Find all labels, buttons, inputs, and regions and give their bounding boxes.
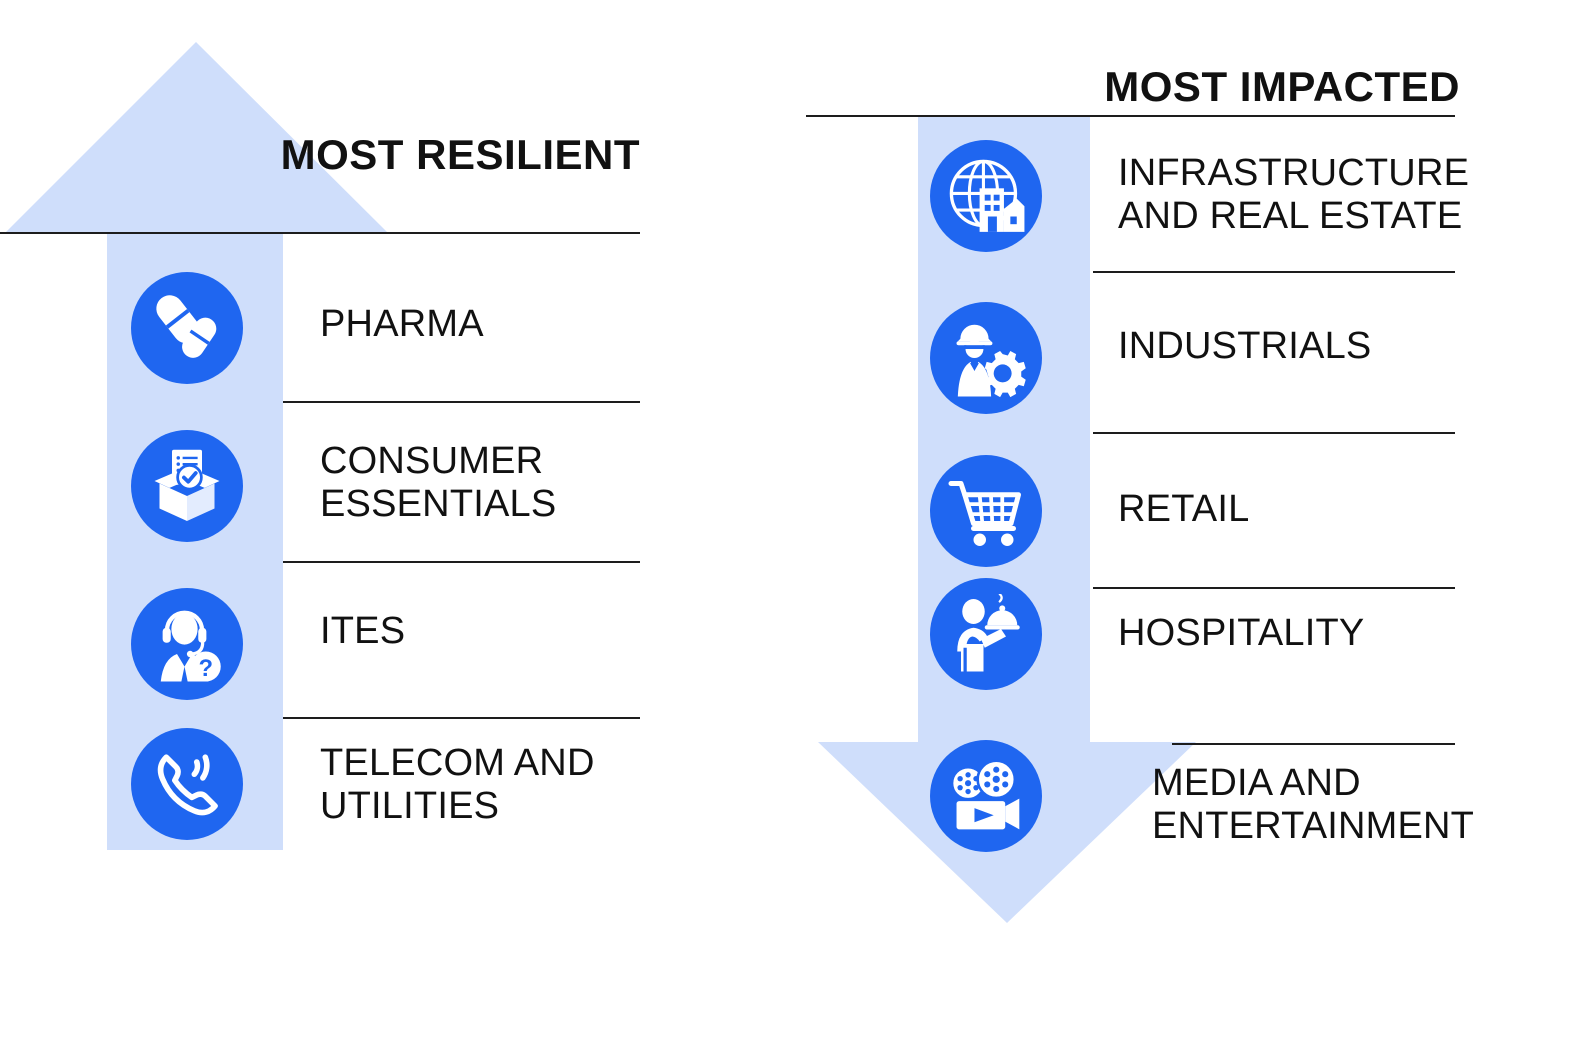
most-impacted-title: MOST IMPACTED <box>900 66 1460 109</box>
worker-gear-icon <box>930 302 1042 414</box>
shopping-cart-icon <box>930 455 1042 567</box>
row-label-infrastructure-and-real-estate: INFRASTRUCTURE AND REAL ESTATE <box>1118 152 1468 237</box>
globe-buildings-icon <box>930 140 1042 252</box>
headset-agent-icon: ? <box>131 588 243 700</box>
row-label-pharma: PHARMA <box>320 303 640 346</box>
divider-right-1 <box>1093 271 1455 273</box>
svg-text:?: ? <box>198 655 213 682</box>
infographic-canvas: MOST RESILIENT PHARMA <box>0 0 1595 1055</box>
open-box-checklist-icon <box>131 430 243 542</box>
row-label-retail: RETAIL <box>1118 488 1468 531</box>
row-label-industrials: INDUSTRIALS <box>1118 325 1468 368</box>
row-label-media-and-entertainment: MEDIA AND ENTERTAINMENT <box>1152 762 1482 847</box>
row-label-hospitality: HOSPITALITY <box>1118 612 1468 655</box>
waiter-tray-icon <box>930 578 1042 690</box>
divider-left-1 <box>283 401 640 403</box>
row-label-consumer-essentials: CONSUMER ESSENTIALS <box>320 440 620 525</box>
divider-left-top <box>0 232 640 234</box>
film-projector-icon <box>930 740 1042 852</box>
divider-left-3 <box>283 717 640 719</box>
pills-icon <box>131 272 243 384</box>
divider-right-top <box>806 115 1455 117</box>
divider-right-4 <box>1172 743 1455 745</box>
divider-right-3 <box>1093 587 1455 589</box>
divider-right-2 <box>1093 432 1455 434</box>
row-label-telecom-and-utilities: TELECOM AND UTILITIES <box>320 742 640 827</box>
phone-signal-icon <box>131 728 243 840</box>
most-resilient-title: MOST RESILIENT <box>260 134 640 177</box>
divider-left-2 <box>283 561 640 563</box>
row-label-ites: ITES <box>320 610 620 653</box>
